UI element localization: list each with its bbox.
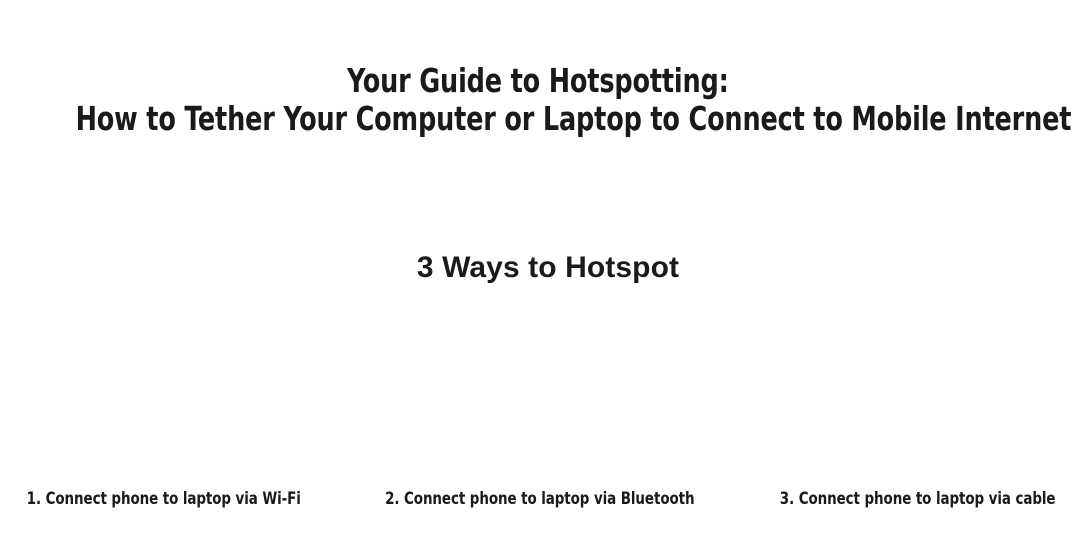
method-figure-2: [400, 302, 680, 464]
section-heading-text: 3 Ways to Hotspot: [417, 249, 679, 287]
method-caption-3: 3. Connect phone to laptop via cable: [720, 487, 1080, 511]
page-title-line-2: How to Tether Your Computer or Laptop to…: [76, 100, 1005, 138]
page-title: Your Guide to Hotspotting: How to Tether…: [76, 62, 1005, 138]
methods-gallery: [0, 286, 1080, 480]
method-caption-row: 1. Connect phone to laptop via Wi-Fi 2. …: [0, 487, 1080, 517]
method-image-wifi: [40, 302, 320, 464]
method-figure-1: [40, 302, 320, 464]
method-caption-3-text: 3. Connect phone to laptop via cable: [780, 487, 1056, 511]
section-heading: 3 Ways to Hotspot: [0, 249, 1080, 287]
method-image-cable: [760, 302, 1040, 464]
method-caption-1-text: 1. Connect phone to laptop via Wi-Fi: [27, 487, 301, 511]
method-caption-1: 1. Connect phone to laptop via Wi-Fi: [0, 487, 360, 511]
article-page: Your Guide to Hotspotting: How to Tether…: [0, 0, 1080, 552]
method-figure-3: [760, 302, 1040, 464]
page-title-line-1: Your Guide to Hotspotting:: [71, 62, 1004, 100]
method-image-bluetooth: [400, 302, 680, 464]
method-caption-2-text: 2. Connect phone to laptop via Bluetooth: [385, 487, 694, 511]
method-caption-2: 2. Connect phone to laptop via Bluetooth: [360, 487, 720, 511]
